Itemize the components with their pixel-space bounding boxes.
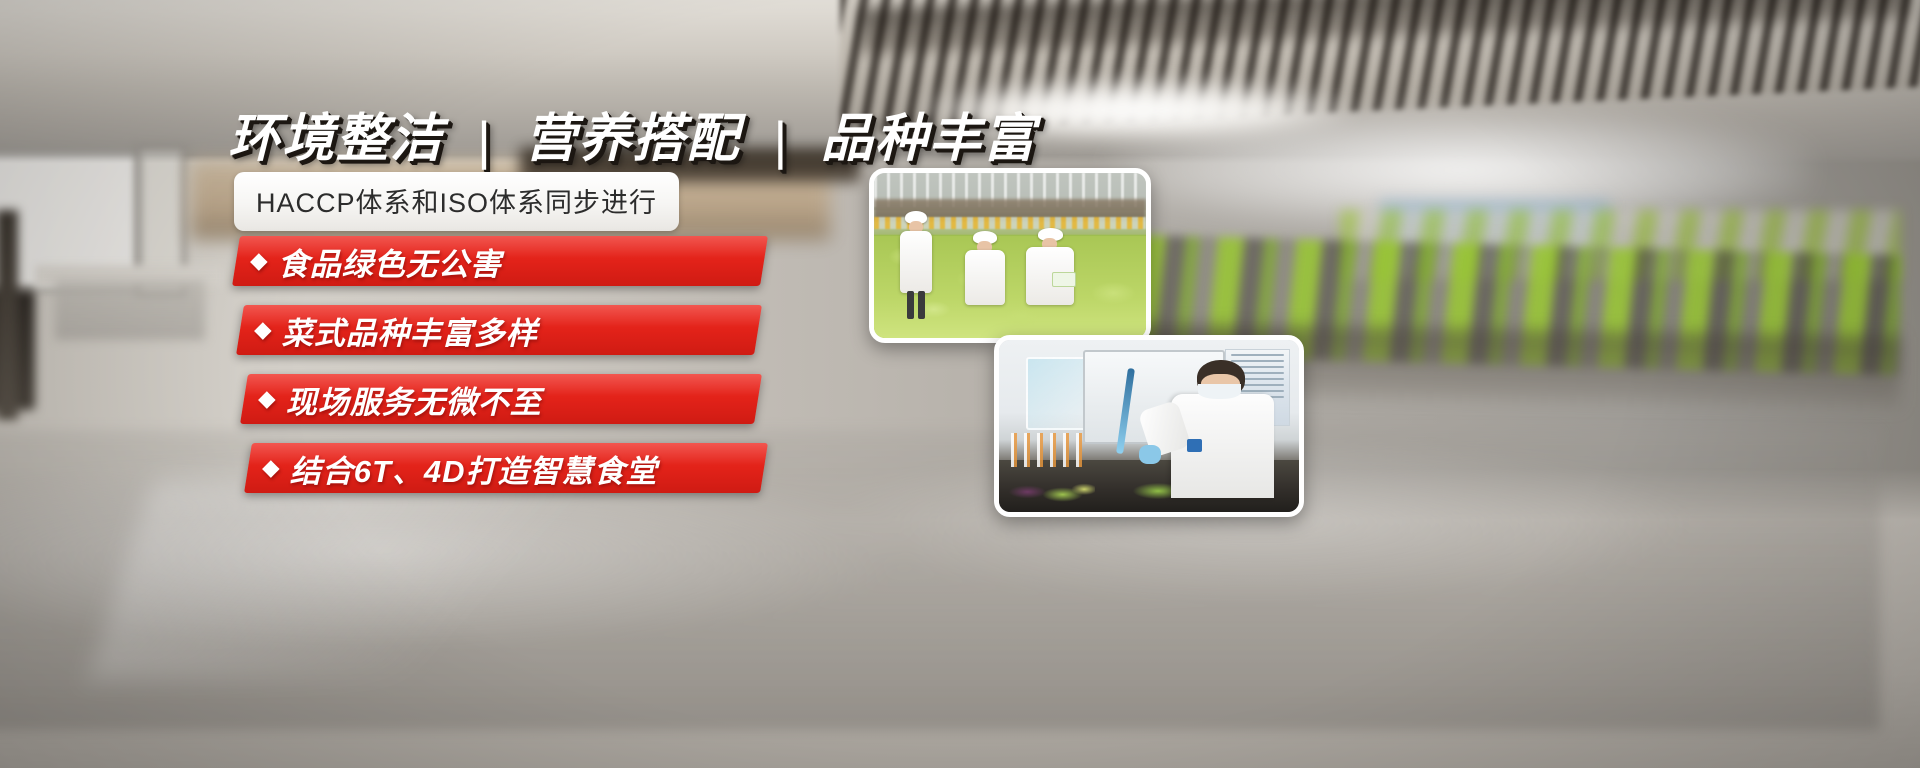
subtitle-badge: HACCP体系和ISO体系同步进行 <box>234 172 679 231</box>
technician-id-badge <box>1187 439 1201 452</box>
laboratory-testing-photo <box>994 335 1304 517</box>
worker-crouching-center <box>962 231 1008 313</box>
headline-separator-1: | <box>476 111 492 171</box>
feature-bar-2[interactable]: ◆ 菜式品种丰富多样 <box>254 305 538 355</box>
feature-bar-3[interactable]: ◆ 现场服务无微不至 <box>258 374 542 424</box>
diamond-bullet-icon: ◆ <box>250 247 269 274</box>
greenhouse-scene <box>874 173 1146 338</box>
banner-headline: 环境整洁 | 营养搭配 | 品种丰富 <box>228 96 1037 171</box>
feature-bar-1-label: 食品绿色无公害 <box>278 239 502 284</box>
test-tube-rack <box>1011 433 1083 467</box>
worker-lab-coat <box>965 250 1005 305</box>
worker-leg <box>918 291 925 319</box>
worker-standing <box>896 211 936 321</box>
feature-bar-4[interactable]: ◆ 结合6T、4D打造智慧食堂 <box>262 443 658 493</box>
feature-bar-4-label: 结合6T、4D打造智慧食堂 <box>290 446 658 491</box>
diamond-bullet-icon: ◆ <box>254 316 273 343</box>
feature-bar-3-label: 现场服务无微不至 <box>286 377 542 422</box>
company-logo-patch <box>1052 272 1076 287</box>
greenhouse-inspection-photo <box>869 168 1151 343</box>
diamond-bullet-icon: ◆ <box>262 454 281 481</box>
headline-part-3: 品种丰富 <box>821 110 1037 168</box>
headline-part-2: 营养搭配 <box>524 110 740 168</box>
feature-bar-2-label: 菜式品种丰富多样 <box>282 308 538 353</box>
vegetable-samples <box>1005 471 1095 509</box>
worker-leg <box>907 291 914 319</box>
laboratory-scene <box>999 340 1299 512</box>
banner-stage: 环境整洁 | 营养搭配 | 品种丰富 HACCP体系和ISO体系同步进行 ◆ 食… <box>0 0 1920 768</box>
headline-separator-2: | <box>773 111 789 171</box>
worker-crouching-right <box>1024 228 1080 316</box>
feature-bar-1[interactable]: ◆ 食品绿色无公害 <box>250 236 502 286</box>
headline-part-1: 环境整洁 <box>228 110 444 168</box>
lab-technician <box>1161 357 1281 498</box>
diamond-bullet-icon: ◆ <box>258 385 277 412</box>
worker-lab-coat <box>900 231 932 293</box>
technician-glove <box>1139 445 1161 465</box>
